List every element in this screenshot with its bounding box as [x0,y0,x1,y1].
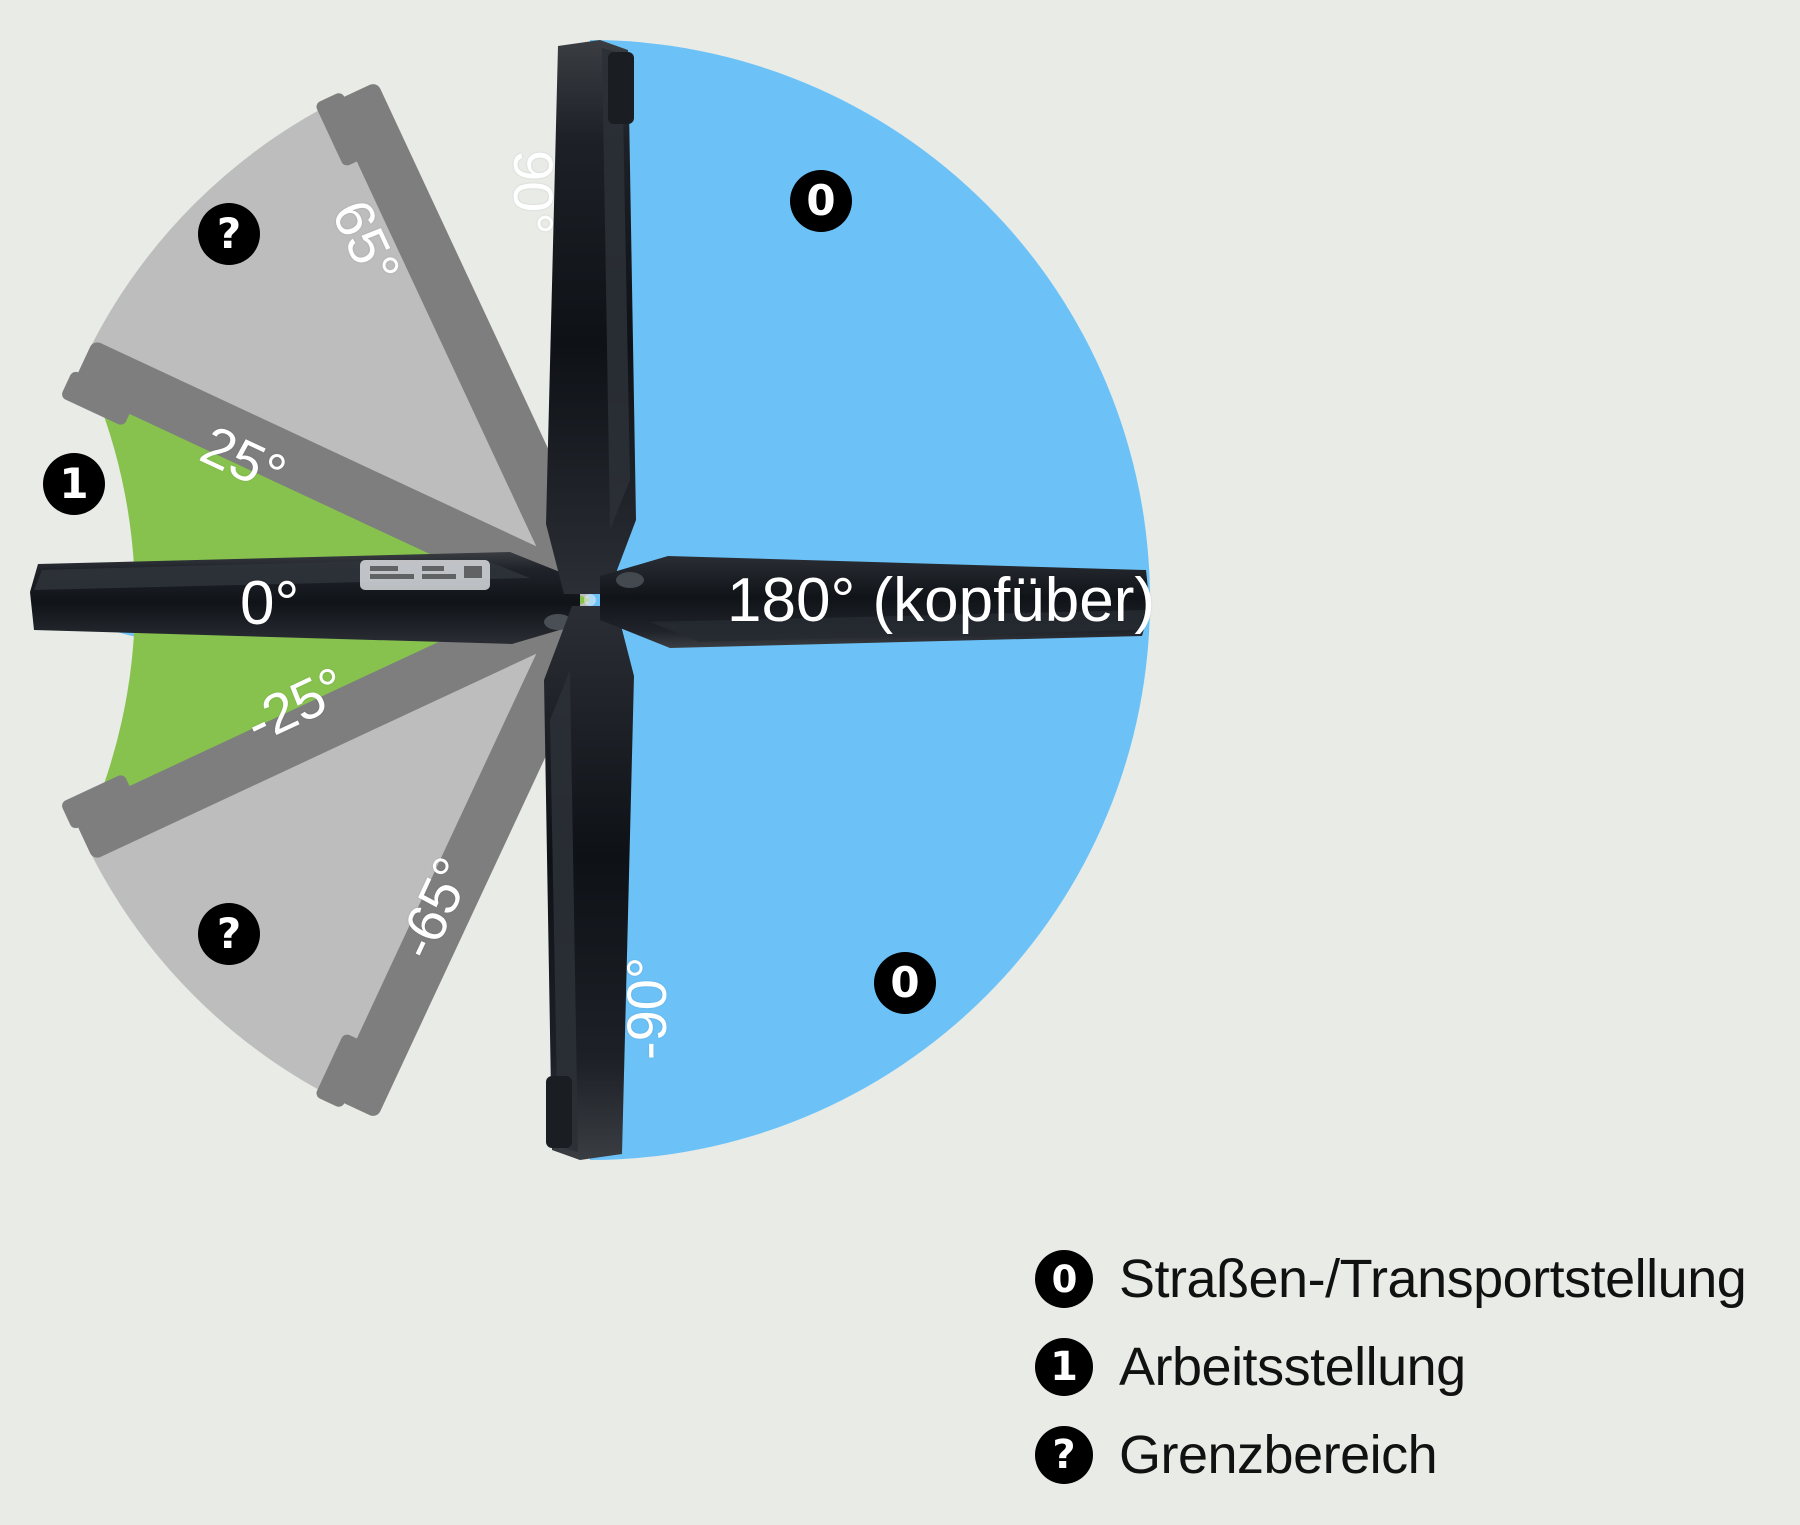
marker-zero-lower: 0 [874,952,936,1014]
orientation-diagram: 90° 65° 25° 0° -25° -65° -90° 180° (kopf… [0,0,1800,1525]
legend-badge-question-icon: ? [1035,1426,1093,1484]
legend: 0 Straßen-/Transportstellung 1 Arbeitsst… [1035,1235,1795,1499]
legend-badge-zero-icon: 0 [1035,1250,1093,1308]
device-photo-90deg [544,606,634,1160]
marker-one-working: 1 [43,453,105,515]
legend-item-limit-zone: ? Grenzbereich [1035,1411,1795,1499]
legend-label-working-position: Arbeitsstellung [1119,1336,1466,1398]
angle-label-minus-90: -90° [614,957,679,1060]
hub-center [584,594,596,606]
device-photo-0deg [30,552,580,644]
marker-question-lower: ? [198,903,260,965]
angle-label-180: 180° (kopfüber) [727,565,1155,636]
legend-label-road-transport: Straßen-/Transportstellung [1119,1248,1746,1310]
legend-label-limit-zone: Grenzbereich [1119,1424,1437,1486]
marker-zero-upper: 0 [790,170,852,232]
angle-label-90: 90° [501,150,566,235]
legend-badge-one-icon: 1 [1035,1338,1093,1396]
legend-item-road-transport: 0 Straßen-/Transportstellung [1035,1235,1795,1323]
legend-item-working-position: 1 Arbeitsstellung [1035,1323,1795,1411]
device-photo-minus90deg [546,40,636,594]
angle-label-0: 0° [240,568,299,639]
marker-question-upper: ? [198,203,260,265]
